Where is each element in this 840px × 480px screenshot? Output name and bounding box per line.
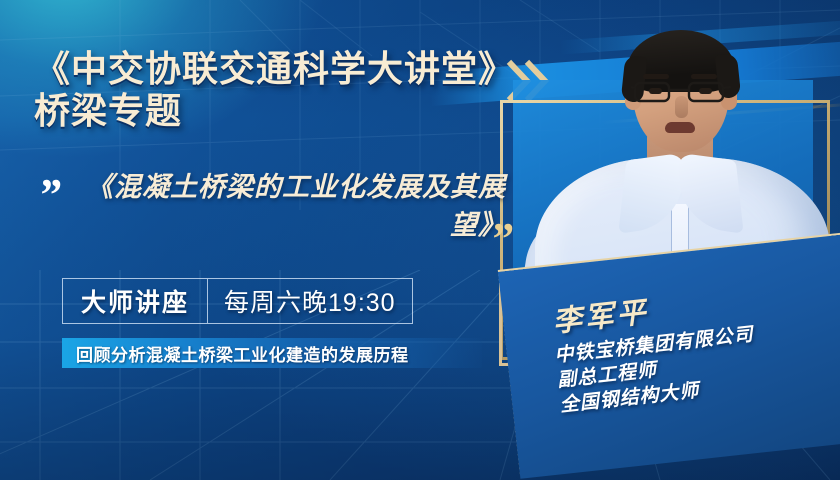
schedule-time: 每周六晚19:30: [208, 279, 412, 323]
title-line-2: 桥梁专题: [34, 90, 515, 132]
description-text: 回顾分析混凝土桥梁工业化建造的发展历程: [62, 341, 409, 366]
lecture-topic-text: 《混凝土桥梁的工业化发展及其展望》: [86, 168, 506, 245]
lecture-topic-quote: ” 《混凝土桥梁的工业化发展及其展望》 ”: [38, 168, 518, 245]
photo-mouth: [665, 122, 695, 133]
photo-brow-right: [691, 74, 717, 79]
lecture-poster: 李军平 中铁宝桥集团有限公司 副总工程师 全国钢结构大师 《中交协联交通科学大讲…: [0, 0, 840, 480]
title-line-1: 《中交协联交通科学大讲堂》: [34, 48, 515, 90]
poster-title: 《中交协联交通科学大讲堂》 桥梁专题: [34, 48, 515, 133]
photo-brow-left: [643, 74, 669, 79]
quote-mark-close: ”: [490, 216, 511, 262]
schedule-box: 大师讲座 每周六晚19:30: [62, 278, 413, 324]
description-bar: 回顾分析混凝土桥梁工业化建造的发展历程: [62, 338, 482, 368]
schedule-label: 大师讲座: [63, 279, 207, 323]
speaker-info-text: 李军平 中铁宝桥集团有限公司 副总工程师 全国钢结构大师: [520, 242, 840, 476]
quote-mark-open: ”: [38, 172, 59, 218]
photo-nose: [675, 96, 688, 118]
